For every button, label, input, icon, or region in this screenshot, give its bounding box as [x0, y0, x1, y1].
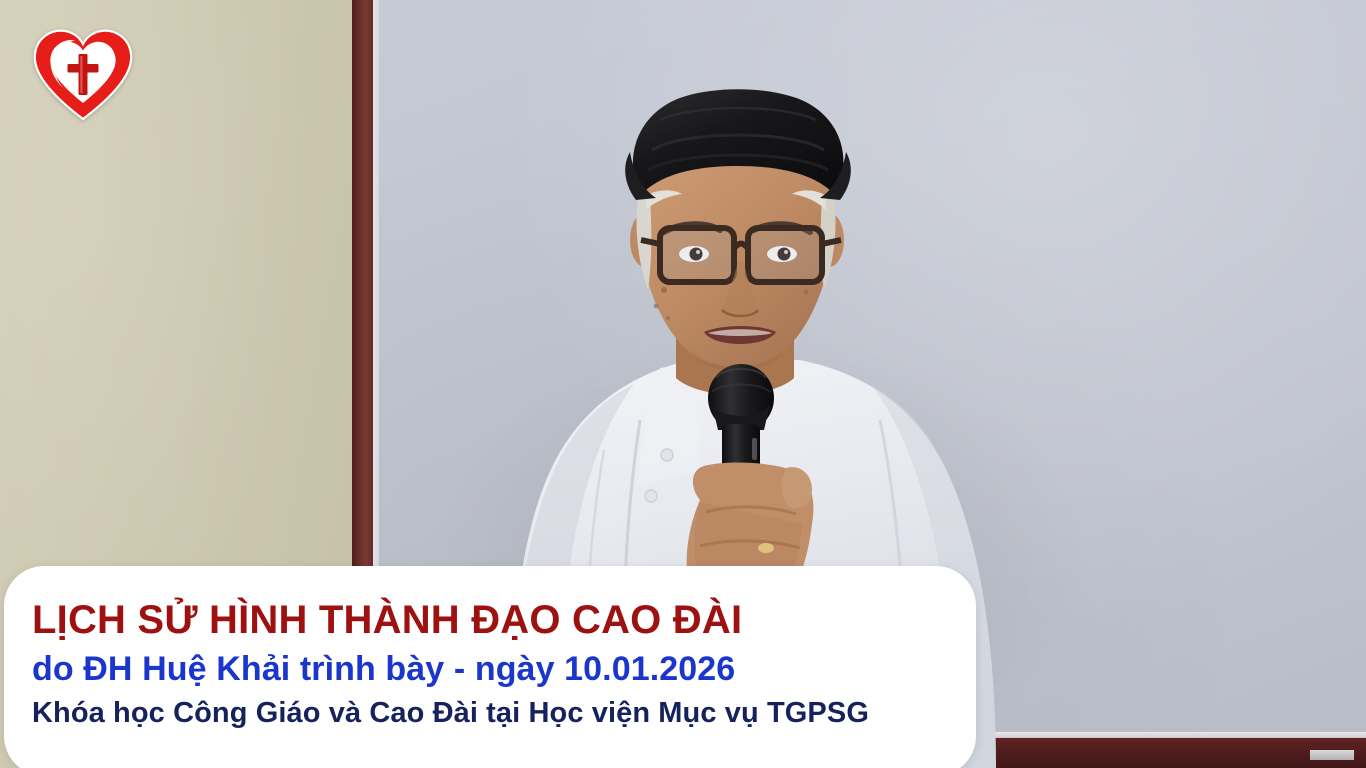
title-card-content: LỊCH SỬ HÌNH THÀNH ĐẠO CAO ĐÀI do ĐH Huệ…	[32, 600, 958, 728]
card-course-line: Khóa học Công Giáo và Cao Đài tại Học vi…	[32, 698, 958, 728]
screenshot-stage: LỊCH SỬ HÌNH THÀNH ĐẠO CAO ĐÀI do ĐH Huệ…	[0, 0, 1366, 768]
card-title: LỊCH SỬ HÌNH THÀNH ĐẠO CAO ĐÀI	[32, 600, 958, 640]
title-card: LỊCH SỬ HÌNH THÀNH ĐẠO CAO ĐÀI do ĐH Huệ…	[4, 566, 976, 768]
card-presenter-line: do ĐH Huệ Khải trình bày - ngày 10.01.20…	[32, 652, 958, 688]
